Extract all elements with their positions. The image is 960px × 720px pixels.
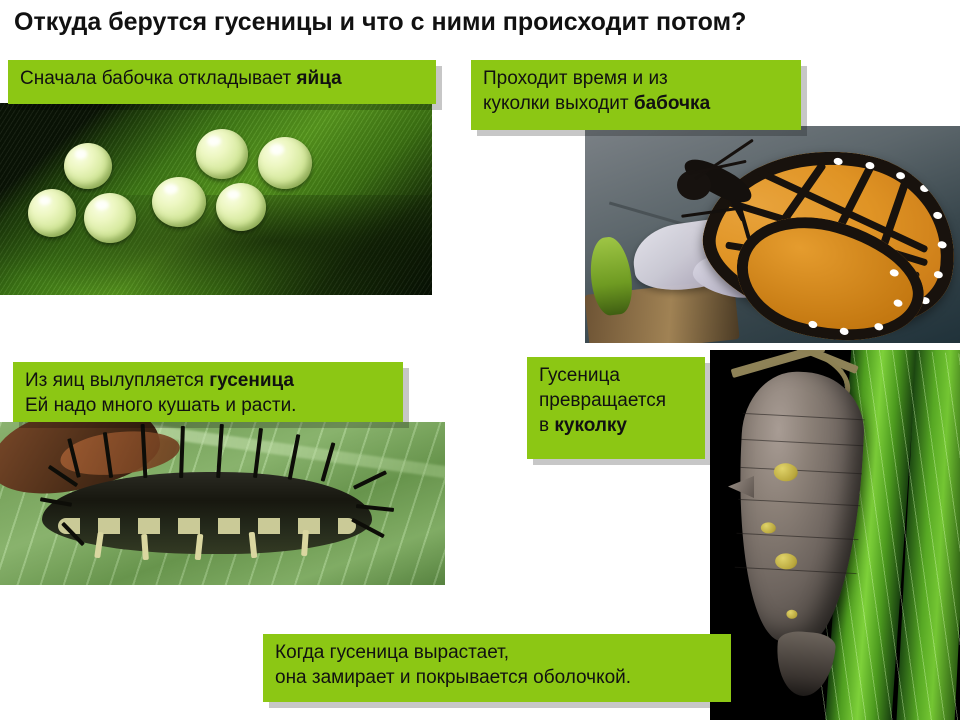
photo-butterfly <box>585 126 960 343</box>
caption-pupa-line1: Гусеница <box>539 363 695 388</box>
egg <box>84 193 136 243</box>
egg <box>64 143 112 189</box>
caption-larva-line2: Ей надо много кушать и расти. <box>25 393 393 418</box>
chrysalis-gold-spot <box>773 463 798 482</box>
page-title: Откуда берутся гусеницы и что с ними про… <box>14 8 746 37</box>
caption-shell-line2: она замирает и покрывается оболочкой. <box>275 665 721 690</box>
caption-larva: Из яиц вылупляется гусеница Ей надо мног… <box>13 362 403 422</box>
egg <box>196 129 248 179</box>
chrysalis-segment-line <box>743 413 865 420</box>
chrysalis-segment-line <box>738 499 860 506</box>
caption-butterfly: Проходит время и из куколки выходит бабо… <box>471 60 801 130</box>
chrysalis-gold-spot <box>761 522 777 534</box>
caption-pupa-line3: в куколку <box>539 413 695 438</box>
chrysalis-segment-line <box>735 567 857 574</box>
caption-eggs-line1: Сначала бабочка откладывает яйца <box>20 66 426 91</box>
chrysalis-segment-line <box>740 467 862 474</box>
egg <box>152 177 206 227</box>
caption-pupa: Гусеница превращается в куколку <box>527 357 705 459</box>
photo-chrysalis <box>710 350 960 720</box>
caption-eggs: Сначала бабочка откладывает яйца <box>8 60 436 104</box>
caption-larva-line1: Из яиц вылупляется гусеница <box>25 368 393 393</box>
egg <box>258 137 312 189</box>
slide-canvas: Откуда берутся гусеницы и что с ними про… <box>0 0 960 720</box>
chrysalis-gold-spot <box>775 553 798 570</box>
caption-shell: Когда гусеница вырастает, она замирает и… <box>263 634 731 702</box>
photo-eggs <box>0 103 432 295</box>
chrysalis-gold-spot <box>786 609 797 619</box>
caption-shell-line1: Когда гусеница вырастает, <box>275 640 721 665</box>
caption-butterfly-line2: куколки выходит бабочка <box>483 91 791 116</box>
chrysalis-segment-line <box>741 439 863 446</box>
caption-butterfly-line1: Проходит время и из <box>483 66 791 91</box>
egg <box>216 183 266 231</box>
chrysalis-segment-line <box>737 533 859 540</box>
caption-pupa-line2: превращается <box>539 388 695 413</box>
photo-caterpillar <box>0 422 445 585</box>
butterfly-head <box>677 170 711 200</box>
egg <box>28 189 76 237</box>
